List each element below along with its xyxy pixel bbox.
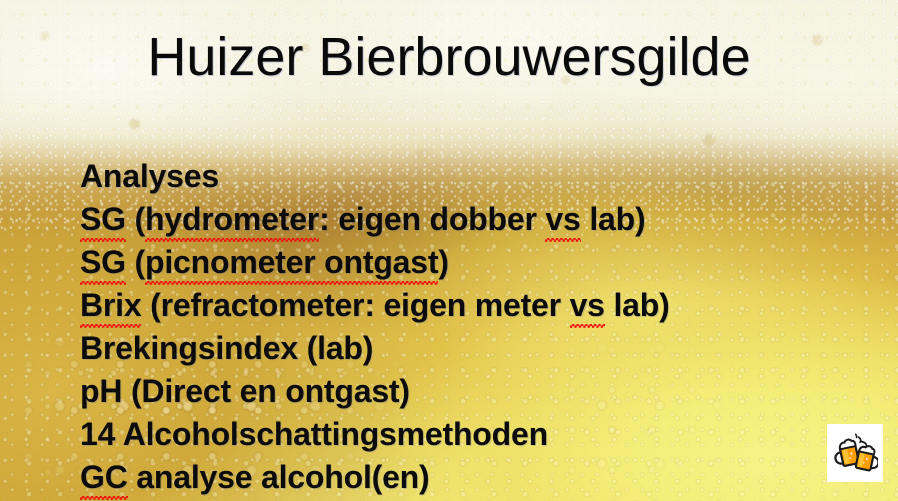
- slide-title: Huizer Bierbrouwersgilde: [0, 28, 898, 87]
- text-run: 14 Alcoholschattingsmethoden: [80, 416, 548, 452]
- misspelled-word: SG: [80, 198, 126, 241]
- beer-mugs-image: [827, 424, 883, 482]
- misspelled-word: vs: [545, 198, 580, 241]
- text-run: (: [126, 244, 145, 280]
- text-run: : eigen dobber: [319, 201, 545, 237]
- slide-body-text: AnalysesSG (hydrometer: eigen dobber vs …: [80, 155, 870, 499]
- presentation-slide: Huizer Bierbrouwersgilde AnalysesSG (hyd…: [0, 0, 898, 501]
- body-line-analyses: Analyses: [80, 155, 870, 198]
- body-line-sg-picnometer: SG (picnometer ontgast): [80, 241, 870, 284]
- text-run: ): [438, 244, 448, 280]
- misspelled-word: picnometer ontgast: [145, 241, 438, 284]
- text-run: Analyses: [80, 158, 219, 194]
- misspelled-word: hydrometer: [145, 198, 319, 241]
- text-run: (refractometer: eigen meter: [141, 287, 569, 323]
- body-line-ph: pH (Direct en ontgast): [80, 370, 870, 413]
- text-run: (: [126, 201, 145, 237]
- text-run: analyse alcohol(en): [128, 459, 430, 495]
- text-run: lab): [581, 201, 646, 237]
- body-line-brix-refractometer: Brix (refractometer: eigen meter vs lab): [80, 284, 870, 327]
- misspelled-word: SG: [80, 241, 126, 284]
- body-line-sg-hydrometer: SG (hydrometer: eigen dobber vs lab): [80, 198, 870, 241]
- misspelled-word: vs: [570, 284, 605, 327]
- body-line-alcoholschatting: 14 Alcoholschattingsmethoden: [80, 413, 870, 456]
- body-line-brekingsindex: Brekingsindex (lab): [80, 327, 870, 370]
- text-run: pH (Direct en ontgast): [80, 373, 410, 409]
- misspelled-word: GC: [80, 456, 128, 499]
- clinking-beer-mugs-icon: [832, 430, 878, 476]
- text-run: lab): [605, 287, 670, 323]
- body-line-gc-analyse: GC analyse alcohol(en): [80, 456, 870, 499]
- misspelled-word: Brix: [80, 284, 141, 327]
- text-run: Brekingsindex (lab): [80, 330, 373, 366]
